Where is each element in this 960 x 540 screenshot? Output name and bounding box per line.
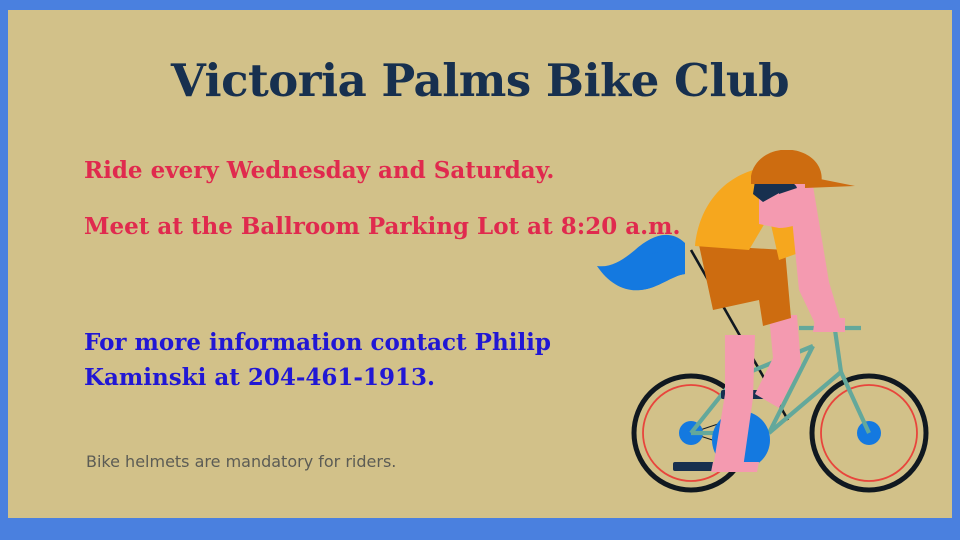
poster-frame: Victoria Palms Bike Club Ride every Wedn… xyxy=(0,0,960,540)
cyclist-illustration xyxy=(573,150,952,500)
contact-info: For more information contact Philip Kami… xyxy=(84,325,584,395)
poster-canvas: Victoria Palms Bike Club Ride every Wedn… xyxy=(8,10,952,518)
helmet-visor-icon xyxy=(805,176,855,188)
rider-foot xyxy=(711,462,759,472)
schedule-line-1: Ride every Wednesday and Saturday. xyxy=(84,157,554,184)
rider-leg-near xyxy=(755,315,801,408)
helmet-notice: Bike helmets are mandatory for riders. xyxy=(86,452,396,471)
rider-hand xyxy=(813,318,845,332)
page-title: Victoria Palms Bike Club xyxy=(8,54,952,107)
rider-shorts xyxy=(699,245,791,326)
